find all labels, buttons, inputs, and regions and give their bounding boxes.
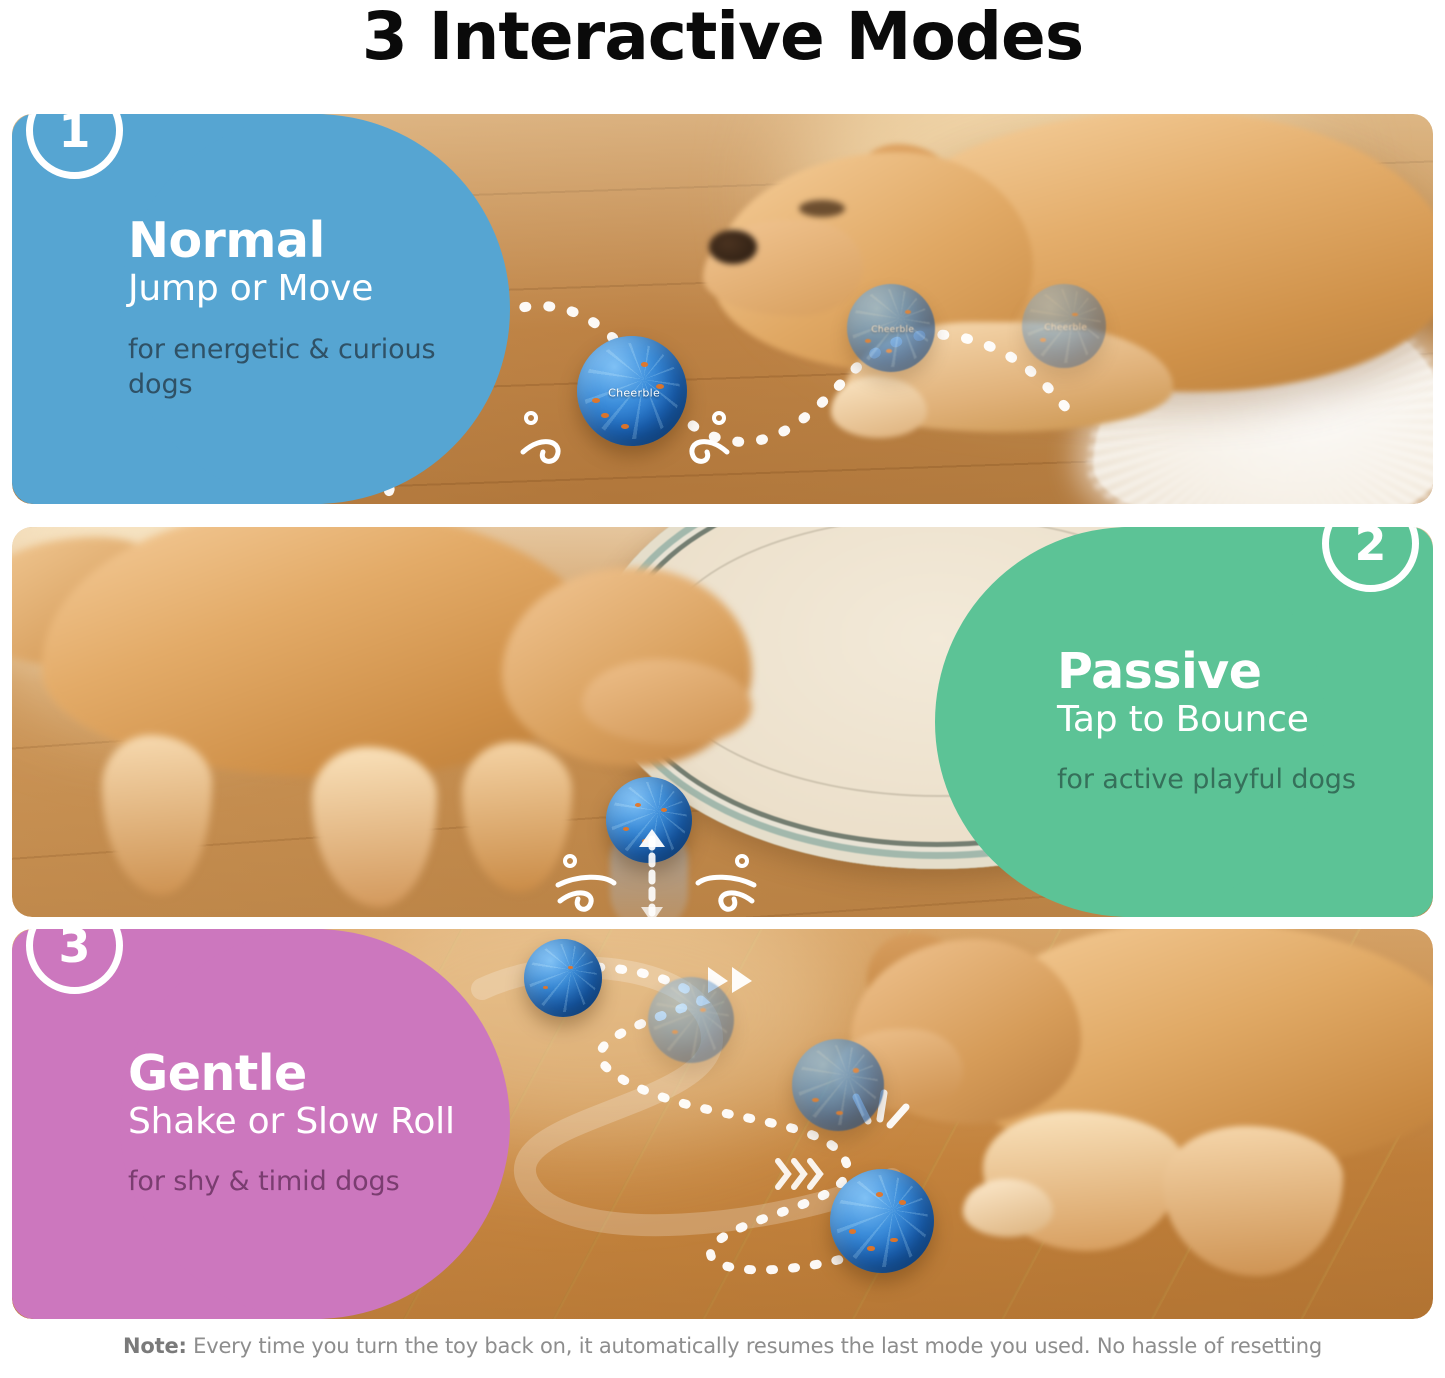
ball-cheerble-roll-2 — [648, 977, 734, 1063]
mode-panel-passive: 2 Passive Tap to Bounce for active playf… — [12, 527, 1433, 917]
ball-brand-label: Cheerble — [608, 387, 660, 400]
speed-lines-icon — [768, 1151, 838, 1197]
ball-brand-label: Cheerble — [1044, 323, 1087, 333]
mode-subtitle: Jump or Move — [128, 268, 470, 309]
ball-cheerble-motion-3: Cheerble — [1022, 284, 1106, 368]
mode-card-passive: 2 Passive Tap to Bounce for active playf… — [935, 527, 1433, 917]
mode-title: Passive — [1057, 647, 1393, 697]
mode-number: 2 — [1354, 527, 1386, 567]
mode-description: for energetic & curious dogs — [128, 332, 470, 402]
mode-panel-normal: Cheerble Cheerble Cheerble — [12, 114, 1433, 504]
footer-note-label: Note: — [123, 1334, 187, 1358]
ball-cheerble-roll-3 — [792, 1039, 884, 1131]
footer-note-text: Every time you turn the toy back on, it … — [187, 1334, 1322, 1358]
mode-card-text: Gentle Shake or Slow Roll for shy & timi… — [12, 1049, 510, 1199]
mode-title: Gentle — [128, 1049, 470, 1099]
ball-cheerble-roll-1 — [524, 939, 602, 1017]
mode-card-text: Normal Jump or Move for energetic & curi… — [12, 216, 510, 402]
mode-card-normal: 1 Normal Jump or Move for energetic & cu… — [12, 114, 510, 504]
mode-panel-gentle: 3 Gentle Shake or Slow Roll for shy & ti… — [12, 929, 1433, 1319]
mode-number: 3 — [58, 929, 90, 969]
page-title: 3 Interactive Modes — [0, 0, 1445, 96]
mode-number: 1 — [58, 114, 90, 154]
mode-description: for active playful dogs — [1057, 762, 1393, 797]
ball-cheerble-motion-2: Cheerble — [847, 284, 935, 372]
mode-card-gentle: 3 Gentle Shake or Slow Roll for shy & ti… — [12, 929, 510, 1319]
mode-title: Normal — [128, 216, 470, 266]
footer-note: Note: Every time you turn the toy back o… — [0, 1334, 1445, 1358]
ball-brand-label: Cheerble — [871, 325, 914, 335]
mode-subtitle: Shake or Slow Roll — [128, 1101, 470, 1142]
ball-cheerble-roll-4 — [830, 1169, 934, 1273]
ball-cheerble: Cheerble — [577, 336, 687, 446]
bounce-arrow-vertical-icon — [632, 827, 672, 917]
mode-description: for shy & timid dogs — [128, 1164, 470, 1199]
mode-subtitle: Tap to Bounce — [1057, 699, 1393, 740]
mode-card-text: Passive Tap to Bounce for active playful… — [935, 647, 1433, 797]
